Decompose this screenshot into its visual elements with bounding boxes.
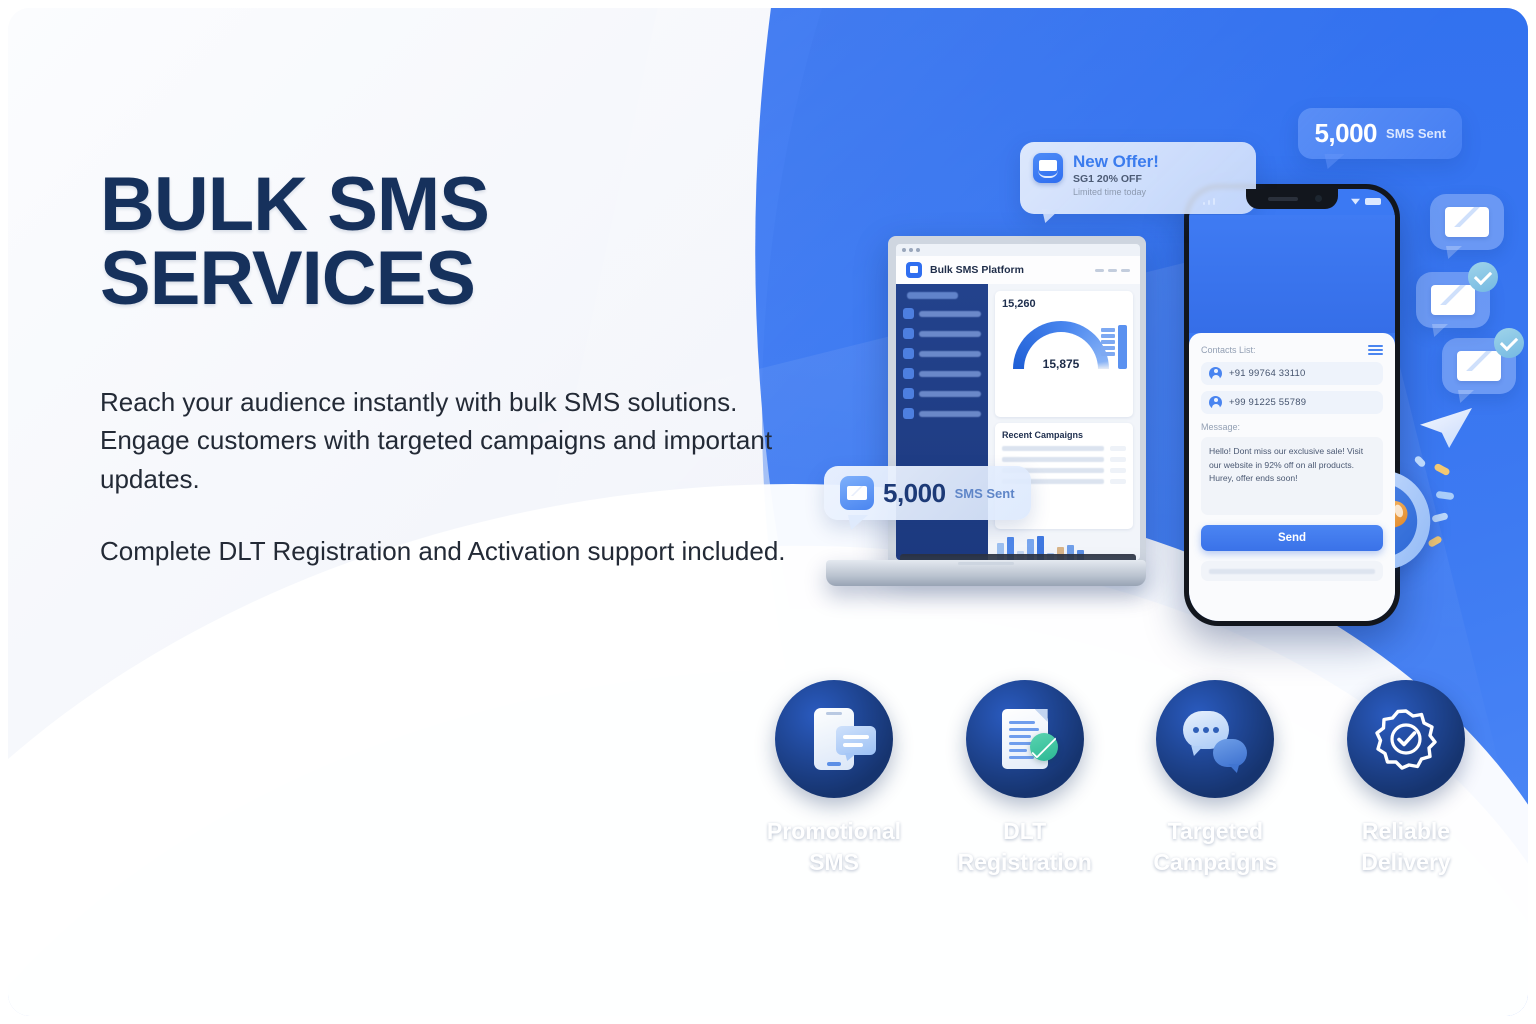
offer-subtitle: SG1 20% OFF bbox=[1073, 173, 1159, 185]
sidebar-item-6[interactable] bbox=[903, 408, 981, 419]
contact-row[interactable]: +91 99764 33110 bbox=[1201, 362, 1383, 385]
send-button[interactable]: Send bbox=[1201, 525, 1383, 551]
laptop-base bbox=[826, 560, 1146, 586]
contact-number: +99 91225 55789 bbox=[1229, 397, 1306, 408]
feature-label: Promotional SMS bbox=[750, 816, 918, 878]
envelope-icon bbox=[1445, 207, 1489, 237]
offer-title: New Offer! bbox=[1073, 153, 1159, 171]
avatar bbox=[1209, 396, 1222, 409]
phone-content-sheet: Contacts List: +91 99764 33110 +99 91225… bbox=[1189, 333, 1395, 621]
inbox-message-icon bbox=[1033, 153, 1063, 183]
campaign-row bbox=[1002, 446, 1126, 451]
gauge-card: 15,260 15,875 bbox=[995, 291, 1133, 417]
promo-banner: BULK SMS SERVICES Reach your audience in… bbox=[8, 8, 1528, 1016]
offer-note: Limited time today bbox=[1073, 187, 1159, 197]
avatar bbox=[1209, 367, 1222, 380]
hero-copy: BULK SMS SERVICES Reach your audience in… bbox=[100, 168, 800, 571]
feature-list: Promotional SMS DLT Registration bbox=[750, 680, 1490, 878]
badge-value: 5,000 bbox=[883, 478, 946, 509]
envelope-icon bbox=[1431, 285, 1475, 315]
window-dots bbox=[902, 248, 920, 252]
contact-row[interactable]: +99 91225 55789 bbox=[1201, 391, 1383, 414]
sidebar-section-label bbox=[907, 292, 958, 299]
dashboard-app-title: Bulk SMS Platform bbox=[930, 264, 1024, 276]
campaign-row bbox=[1002, 457, 1126, 462]
feature-label-line1: Targeted bbox=[1131, 816, 1299, 847]
feature-dlt-registration[interactable]: DLT Registration bbox=[941, 680, 1109, 878]
campaigns-title: Recent Campaigns bbox=[1002, 430, 1126, 440]
message-bubble-delivered bbox=[1416, 272, 1490, 328]
check-badge-icon bbox=[1030, 733, 1058, 761]
contacts-label: Contacts List: bbox=[1201, 345, 1256, 355]
message-bubble bbox=[1430, 194, 1504, 250]
phone-header bbox=[1189, 215, 1395, 333]
confetti-ray bbox=[1433, 463, 1450, 477]
contacts-header: Contacts List: bbox=[1201, 345, 1383, 355]
feature-label-line2: Registration bbox=[941, 847, 1109, 878]
feature-label-line2: SMS bbox=[750, 847, 918, 878]
battery-icon bbox=[1365, 198, 1381, 205]
check-badge-icon bbox=[1494, 328, 1524, 358]
hero-paragraph-1: Reach your audience instantly with bulk … bbox=[100, 383, 800, 498]
dashboard-topbar: Bulk SMS Platform bbox=[896, 256, 1140, 284]
sms-sent-badge-laptop: 5,000 SMS Sent bbox=[824, 466, 1031, 520]
mini-stat bbox=[1101, 325, 1127, 358]
confetti-ray bbox=[1431, 512, 1448, 523]
topbar-controls[interactable] bbox=[1095, 269, 1130, 272]
phone-notch bbox=[1246, 189, 1338, 209]
message-label: Message: bbox=[1201, 422, 1383, 432]
phone-mockup: Bulk SMS Service 1528 SMS Credits Left C… bbox=[1184, 184, 1400, 626]
chat-bubble-icon bbox=[836, 726, 876, 755]
feature-label-line2: Campaigns bbox=[1131, 847, 1299, 878]
headline-line-2: SERVICES bbox=[100, 242, 800, 316]
feature-label-line1: DLT bbox=[941, 816, 1109, 847]
feature-icon-circle bbox=[966, 680, 1084, 798]
phone-message-icon bbox=[814, 708, 854, 770]
laptop-mockup: Bulk SMS Platform 15 bbox=[826, 236, 1146, 596]
feature-targeted-campaigns[interactable]: Targeted Campaigns bbox=[1131, 680, 1299, 878]
sidebar-item-2[interactable] bbox=[903, 328, 981, 339]
sidebar-item-4[interactable] bbox=[903, 368, 981, 379]
sidebar-item-3[interactable] bbox=[903, 348, 981, 359]
sidebar-item-5[interactable] bbox=[903, 388, 981, 399]
phone-screen: Bulk SMS Service 1528 SMS Credits Left C… bbox=[1189, 189, 1395, 621]
document-verified-icon bbox=[1002, 709, 1048, 769]
phone-footer-item[interactable] bbox=[1201, 561, 1383, 581]
contact-number: +91 99764 33110 bbox=[1229, 368, 1306, 379]
chat-bubble-secondary bbox=[1213, 739, 1247, 767]
sidebar-item-1[interactable] bbox=[903, 308, 981, 319]
page-title: BULK SMS SERVICES bbox=[100, 168, 800, 317]
feature-label: Reliable Delivery bbox=[1322, 816, 1490, 878]
feature-promotional-sms[interactable]: Promotional SMS bbox=[750, 680, 918, 878]
sms-sent-badge-top: 5,000 SMS Sent bbox=[1298, 108, 1462, 159]
page-fold bbox=[1035, 709, 1048, 722]
hero-paragraph-2: Complete DLT Registration and Activation… bbox=[100, 532, 800, 570]
feature-icon-circle bbox=[1347, 680, 1465, 798]
feature-reliable-delivery[interactable]: Reliable Delivery bbox=[1322, 680, 1490, 878]
envelope-icon bbox=[1457, 351, 1501, 381]
envelope-icon bbox=[840, 476, 874, 510]
gear-check-icon bbox=[1375, 708, 1437, 770]
feature-label: Targeted Campaigns bbox=[1131, 816, 1299, 878]
signal-bars-icon bbox=[1203, 198, 1215, 205]
gauge-center-value: 15,875 bbox=[1013, 357, 1109, 371]
feature-icon-circle bbox=[775, 680, 893, 798]
hamburger-menu-icon[interactable] bbox=[1368, 345, 1383, 355]
chat-bubbles-icon bbox=[1183, 711, 1247, 767]
message-bubble-delivered bbox=[1442, 338, 1516, 394]
wifi-icon bbox=[1351, 198, 1360, 205]
confetti-ray bbox=[1427, 535, 1443, 548]
confetti-ray bbox=[1436, 491, 1455, 500]
badge-label: SMS Sent bbox=[1386, 126, 1446, 141]
headline-line-1: BULK SMS bbox=[100, 168, 800, 242]
kpi-value: 15,260 bbox=[1002, 298, 1126, 310]
feature-icon-circle bbox=[1156, 680, 1274, 798]
feature-label-line2: Delivery bbox=[1322, 847, 1490, 878]
check-badge-icon bbox=[1468, 262, 1498, 292]
badge-label: SMS Sent bbox=[955, 486, 1015, 501]
feature-label-line1: Reliable bbox=[1322, 816, 1490, 847]
message-input[interactable]: Hello! Dont miss our exclusive sale! Vis… bbox=[1201, 437, 1383, 515]
badge-value: 5,000 bbox=[1314, 118, 1377, 149]
grid-logo-icon bbox=[906, 262, 922, 278]
feature-label: DLT Registration bbox=[941, 816, 1109, 878]
feature-label-line1: Promotional bbox=[750, 816, 918, 847]
